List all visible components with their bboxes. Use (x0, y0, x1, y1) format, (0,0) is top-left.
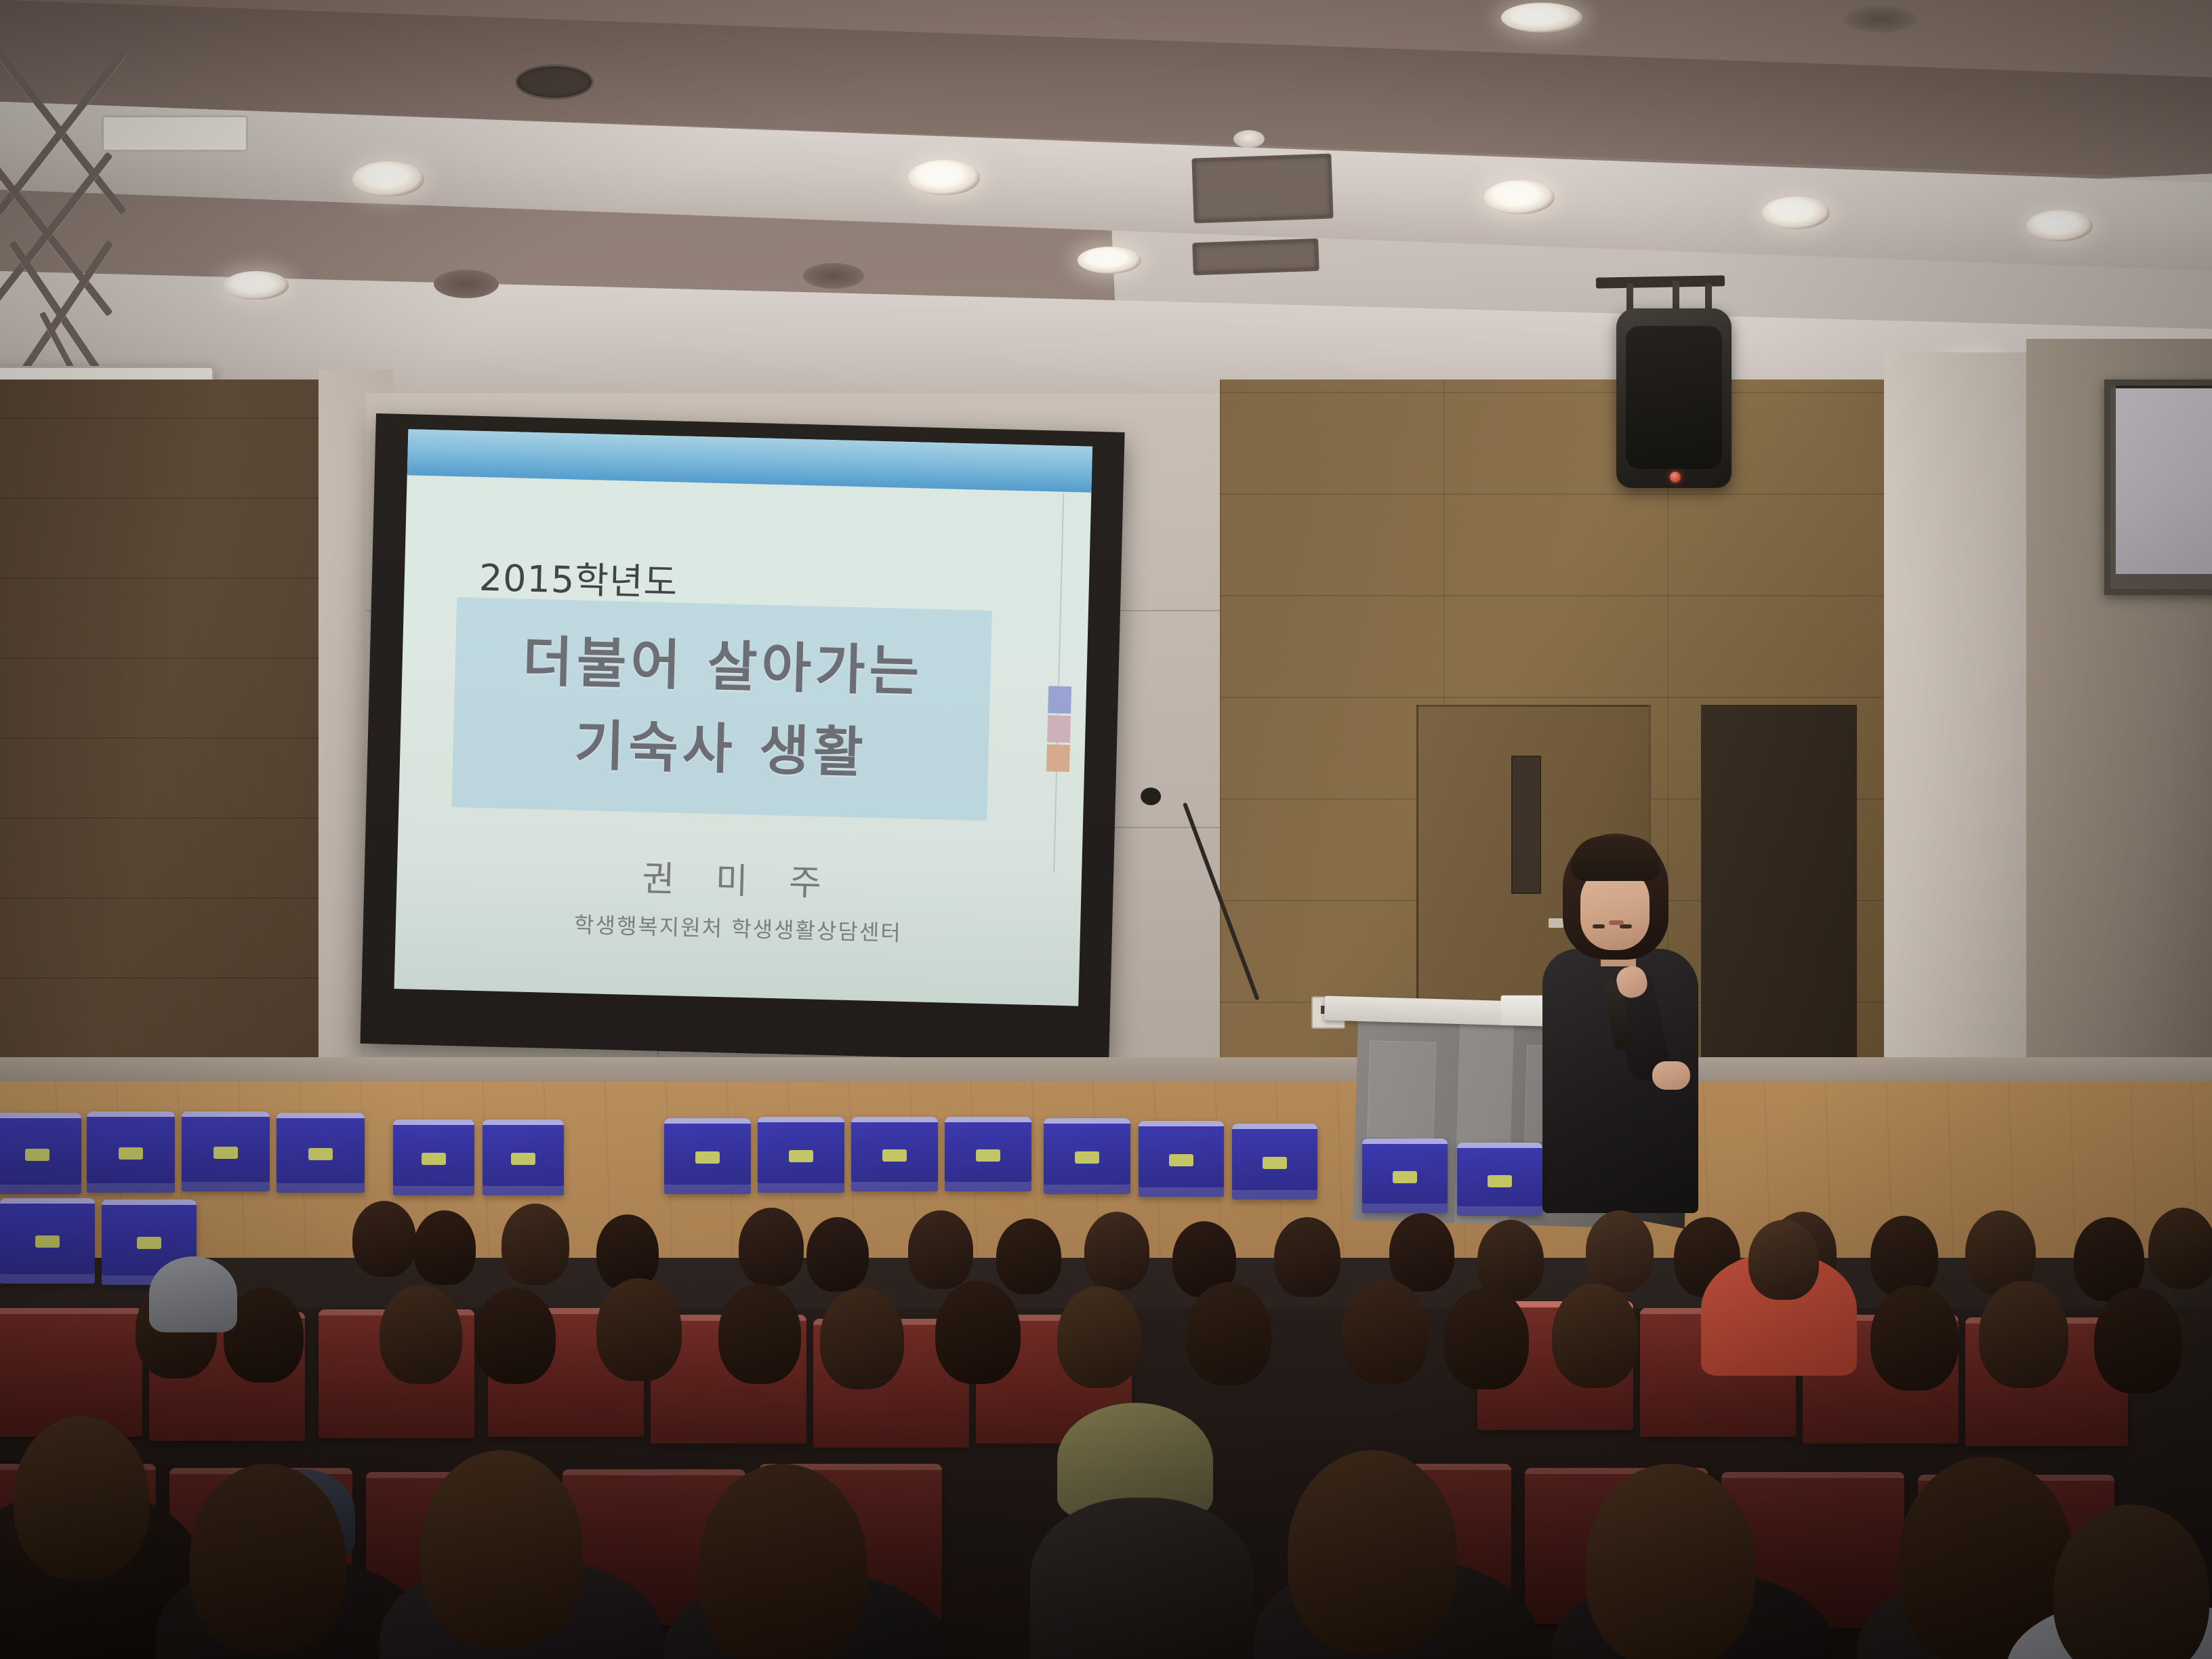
attendee-head (1057, 1286, 1141, 1388)
downlight-icon (352, 161, 424, 197)
attendee-head (1274, 1217, 1340, 1297)
downlight-icon (908, 160, 980, 195)
attendee-head (806, 1217, 869, 1292)
projector-ceiling-plate (102, 115, 248, 152)
chair-front-row[interactable] (1044, 1118, 1130, 1194)
ceiling-air-vent (1191, 153, 1333, 223)
attendee-head (1389, 1213, 1454, 1292)
attendee-head (420, 1450, 583, 1647)
chair-front-row[interactable] (276, 1113, 365, 1193)
left-wood-wall (0, 380, 352, 1139)
attendee-head (1186, 1282, 1271, 1385)
attendee-head (190, 1464, 346, 1654)
attendee-head (596, 1214, 659, 1290)
audience-area (0, 1084, 2212, 1659)
slide-speaker-name: 권 미 주 (396, 844, 1082, 912)
chair-front-row[interactable] (1362, 1139, 1448, 1213)
chair-front-row[interactable] (1457, 1143, 1542, 1216)
downlight-icon (1762, 197, 1830, 229)
attendee-head (1084, 1212, 1149, 1290)
attendee-head (820, 1288, 904, 1389)
chair-front-row[interactable] (851, 1117, 938, 1191)
attendee-head (1979, 1281, 2068, 1388)
projection-screen-frame: 2015학년도 더불어 살아가는 기숙사 생활 권 미 주 학생행복지원처 학생… (360, 413, 1124, 1063)
attendee-head (1552, 1284, 1639, 1388)
attendee-head (596, 1278, 682, 1381)
chair-front-row[interactable] (1139, 1121, 1224, 1197)
downlight-icon (1078, 247, 1141, 274)
slide-accent-square-2 (1047, 715, 1071, 743)
pa-power-led-icon (1670, 472, 1681, 483)
attendee-head (698, 1464, 867, 1659)
chair-front-row[interactable] (393, 1120, 474, 1195)
chair-front-row[interactable] (1232, 1124, 1317, 1200)
attendee-head (1443, 1288, 1529, 1389)
attendee-head (996, 1218, 1061, 1294)
attendee-head (1870, 1285, 1959, 1391)
chair-front-row[interactable] (87, 1111, 175, 1193)
attendee-beanie-hat (149, 1256, 237, 1332)
attendee-head (352, 1201, 416, 1277)
projection-screen-surface: 2015학년도 더불어 살아가는 기숙사 생활 권 미 주 학생행복지원처 학생… (394, 429, 1093, 1006)
downlight-icon (1843, 5, 1918, 33)
presenter-mouth (1609, 920, 1624, 925)
attendee-head (2148, 1208, 2212, 1289)
chair-front-row[interactable] (483, 1120, 564, 1195)
chair-front-row[interactable] (945, 1117, 1031, 1191)
attendee-head (739, 1208, 804, 1286)
attendee-head (14, 1416, 149, 1579)
downlight-icon (2026, 210, 2093, 241)
chair-front-row[interactable] (0, 1198, 95, 1284)
slide-title-line-2: 기숙사 생활 (452, 699, 989, 791)
attendee-head (908, 1210, 973, 1289)
attendee-head (380, 1285, 462, 1384)
attendee-head (1586, 1210, 1654, 1292)
attendee-head (1342, 1279, 1429, 1384)
chair-front-row[interactable] (758, 1117, 844, 1193)
attendee-head (1870, 1216, 1938, 1297)
slide-academic-year: 2015학년도 (478, 548, 678, 606)
downlight-icon (1501, 3, 1582, 33)
chair-front-row[interactable] (0, 1113, 81, 1194)
slide-accent-square-3 (1046, 744, 1070, 772)
slide-divider-rail (1053, 493, 1064, 873)
slide-header-band (407, 429, 1092, 493)
monitor-screen (2116, 388, 2212, 574)
attendee-head (1586, 1464, 1755, 1659)
presenter-bangs (1571, 836, 1660, 881)
attendee-head (1288, 1450, 1457, 1654)
slide-title-box: 더불어 살아가는 기숙사 생활 (451, 597, 992, 821)
slide-accent-square-1 (1048, 686, 1071, 714)
slide-title-line-1: 더불어 살아가는 (455, 616, 992, 708)
chair-front-row[interactable] (664, 1118, 751, 1194)
attendee-head (935, 1281, 1021, 1384)
attendee-head (501, 1204, 569, 1285)
attendee-head (718, 1284, 801, 1384)
attendee-head (2094, 1288, 2182, 1393)
ceiling-pa-speaker (1616, 308, 1732, 488)
auditorium-photo: 2015학년도 더불어 살아가는 기숙사 생활 권 미 주 학생행복지원처 학생… (0, 0, 2212, 1659)
downlight-icon (803, 263, 864, 289)
attendee-head (1748, 1220, 1819, 1300)
wall-monitor (2104, 380, 2212, 595)
downlight-icon (1484, 180, 1555, 214)
chair-front-row[interactable] (182, 1111, 270, 1191)
smoke-detector (1233, 130, 1265, 148)
attendee-head (474, 1288, 556, 1384)
ceiling-air-vent (1192, 239, 1319, 275)
door-window-slit (1511, 756, 1541, 894)
attendee-head (413, 1210, 476, 1285)
downlight-icon (434, 270, 499, 298)
attendee-torso (1030, 1498, 1254, 1659)
ceiling-air-vent (515, 64, 594, 100)
slide-organization: 학생행복지원처 학생생활상담센터 (396, 903, 1081, 952)
pa-speaker-grill (1626, 326, 1722, 469)
